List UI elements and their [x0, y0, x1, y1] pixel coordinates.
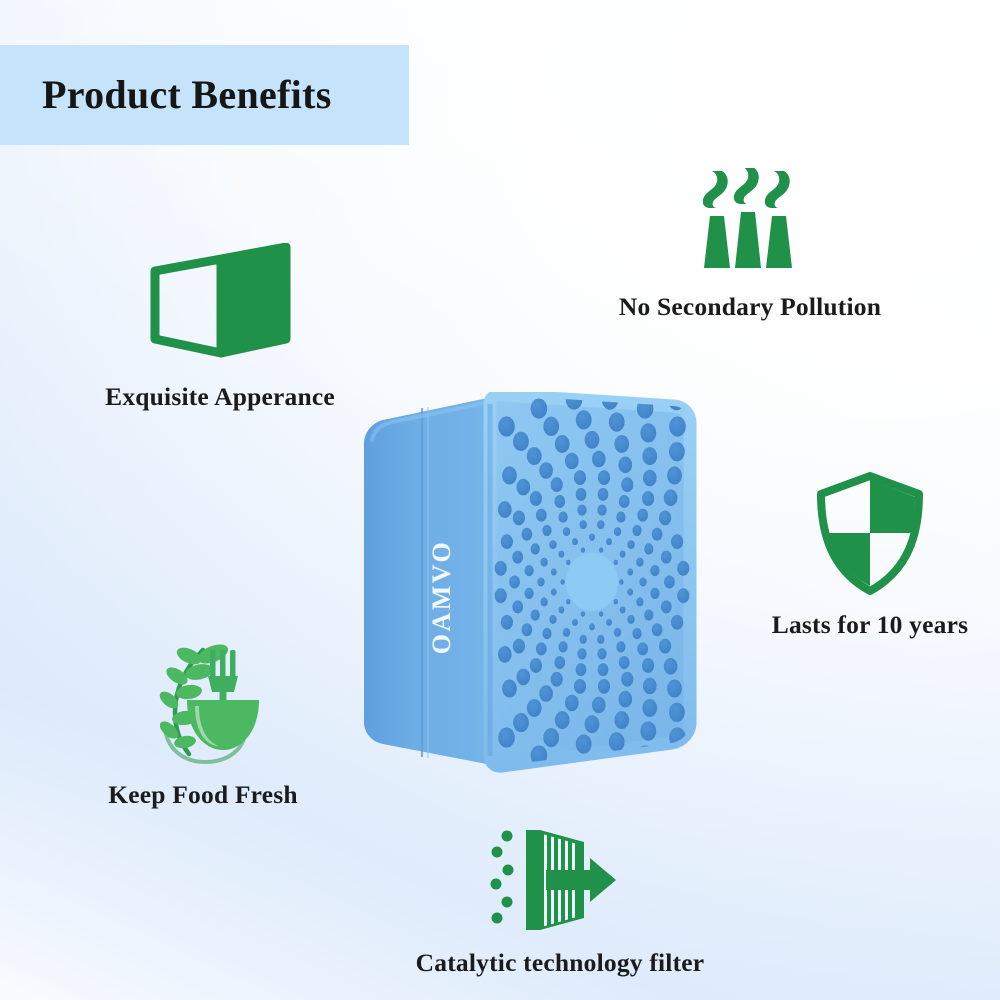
factory-icon — [590, 168, 910, 278]
benefit-label: Lasts for 10 years — [745, 610, 995, 640]
product-image — [352, 392, 700, 774]
benefit-label: Exquisite Apperance — [65, 382, 375, 412]
benefit-label: Keep Food Fresh — [78, 780, 328, 810]
benefit-label: No Secondary Pollution — [590, 292, 910, 322]
benefit-label: Catalytic technology filter — [385, 948, 735, 978]
cube-icon — [65, 243, 375, 368]
shield-icon — [745, 470, 995, 596]
product-benefits-infographic: Product Benefits Exquisite Apperance — [0, 0, 1000, 1000]
benefit-lasts-for-10-years: Lasts for 10 years — [745, 470, 995, 640]
benefit-no-secondary-pollution: No Secondary Pollution — [590, 168, 910, 322]
benefit-exquisite-apperance: Exquisite Apperance — [65, 243, 375, 412]
bowl-leaf-icon — [78, 638, 328, 766]
page-title: Product Benefits — [42, 45, 422, 145]
filter-arrow-icon — [385, 826, 735, 934]
benefit-catalytic-technology-filter: Catalytic technology filter — [385, 826, 735, 978]
benefit-keep-food-fresh: Keep Food Fresh — [78, 638, 328, 810]
